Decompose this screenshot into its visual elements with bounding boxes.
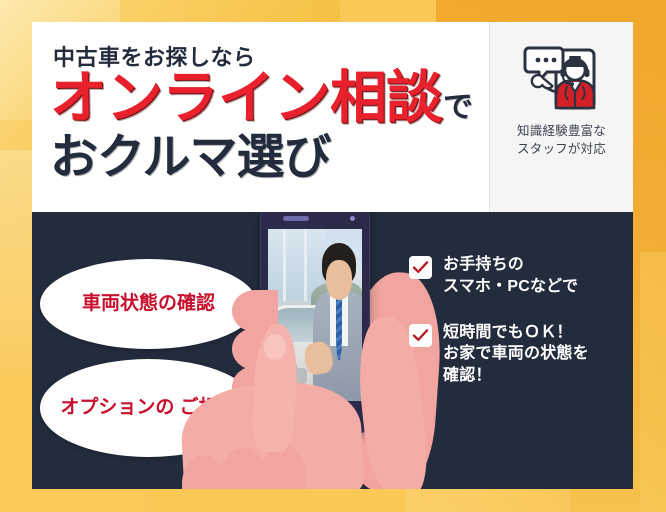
checkmark-icon xyxy=(409,256,432,279)
hand-fingernail xyxy=(264,334,286,360)
checkmark-icon xyxy=(409,324,432,347)
phone-camera-icon xyxy=(350,216,355,221)
support-staff-headset-icon xyxy=(519,34,605,120)
checklist-item-label: 短時間でもＯＫ！ お家で車両の状態を 確認！ xyxy=(443,322,589,387)
main-headline-red: オンライン相談 xyxy=(50,70,442,127)
checklist-item: お手持ちの スマホ・PCなどで xyxy=(409,254,621,298)
support-caption-line1: 知識経験豊富な xyxy=(517,122,606,140)
sub-headline: おクルマ選び xyxy=(50,134,331,182)
banner-canvas: 中古車をお探しなら オンライン相談 で おクルマ選び xyxy=(0,0,666,512)
features-panel: 車両状態の確認 オプションの ご相談 xyxy=(32,212,633,489)
phone-speaker xyxy=(283,216,309,221)
checklist-item-label: お手持ちの スマホ・PCなどで xyxy=(443,254,578,298)
checklist-item: 短時間でもＯＫ！ お家で車両の状態を 確認！ xyxy=(409,322,621,387)
support-panel: 知識経験豊富な スタッフが対応 xyxy=(490,22,633,212)
benefits-checklist: お手持ちの スマホ・PCなどで 短時間でもＯＫ！ お家で車両の状態を 確認！ xyxy=(409,254,621,411)
main-headline: オンライン相談 で xyxy=(50,70,473,127)
salesperson-figure xyxy=(313,243,362,401)
main-headline-suffix: で xyxy=(443,93,473,123)
support-caption-line2: スタッフが対応 xyxy=(517,140,606,158)
feature-pill-vehicle-condition[interactable]: 車両状態の確認 xyxy=(40,259,257,349)
headline-panel: 中古車をお探しなら オンライン相談 で おクルマ選び xyxy=(32,22,633,212)
support-caption: 知識経験豊富な スタッフが対応 xyxy=(517,122,606,158)
headline-column: 中古車をお探しなら オンライン相談 で おクルマ選び xyxy=(32,22,489,212)
